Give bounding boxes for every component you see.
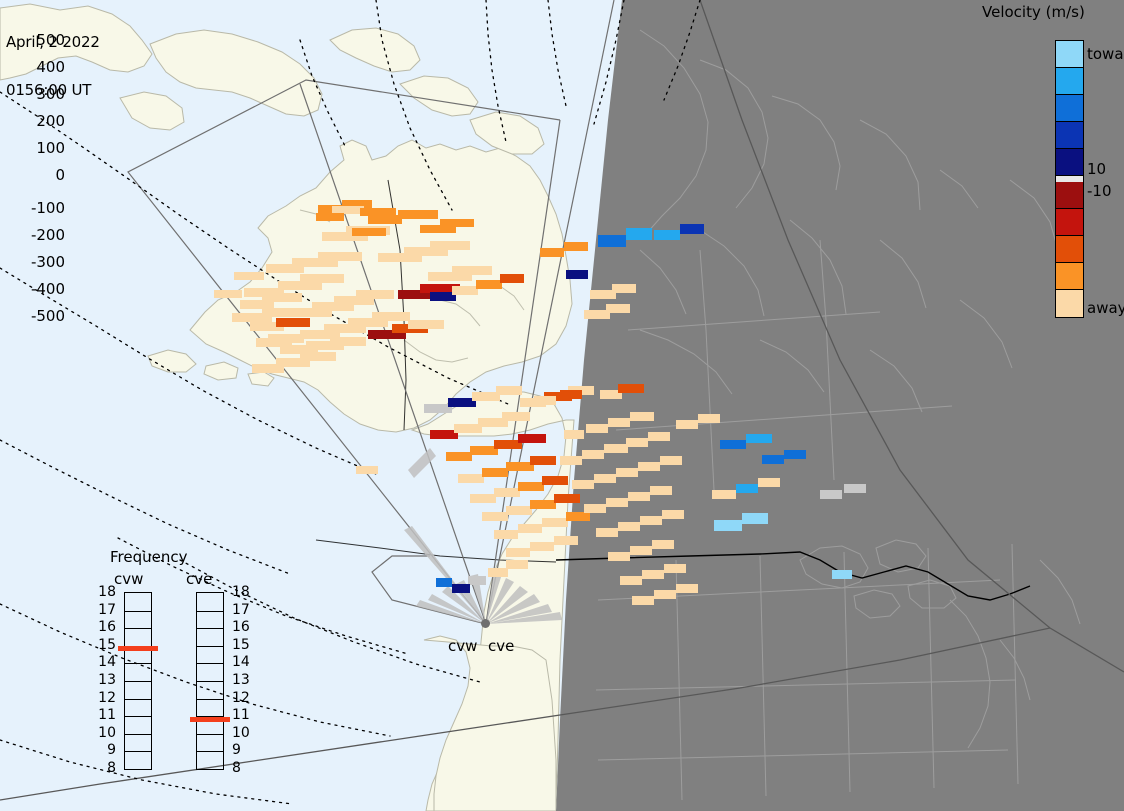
- scatter-cell: [758, 478, 780, 487]
- frequency-gauge-segment: [197, 611, 223, 612]
- scatter-cell: [664, 564, 686, 573]
- scatter-cell: [372, 312, 410, 321]
- scatter-cell: [582, 450, 604, 459]
- scatter-cell: [660, 456, 682, 465]
- scatter-cell: [542, 518, 568, 527]
- frequency-gauge-segment: [197, 751, 223, 752]
- frequency-gauge-segment: [197, 663, 223, 664]
- frequency-tick-label: 17: [232, 602, 250, 618]
- colorbar-title: Velocity (m/s): [982, 3, 1085, 21]
- frequency-gauge-cve: [196, 592, 224, 770]
- scatter-cell: [234, 272, 264, 280]
- scatter-cell: [844, 484, 866, 493]
- frequency-gauge-segment: [197, 646, 223, 647]
- colorbar-tick-label: 400: [36, 58, 65, 76]
- colorbar-band-toward: [1056, 122, 1083, 149]
- scatter-cell: [530, 500, 556, 509]
- frequency-tick-label: 10: [232, 725, 250, 741]
- velocity-colorbar: [1055, 40, 1084, 318]
- scatter-cell: [470, 446, 498, 455]
- scatter-cell: [500, 274, 524, 283]
- scatter-cell: [494, 530, 518, 539]
- scatter-cell: [560, 390, 582, 399]
- colorbar-tick-label: 100: [36, 139, 65, 157]
- scatter-cell: [506, 462, 534, 471]
- site-label-cvw: cvw: [448, 637, 477, 655]
- scatter-cell: [560, 456, 582, 465]
- scatter-cell: [214, 290, 242, 298]
- colorbar-tick-label: -200: [31, 226, 65, 244]
- frequency-tick-label: 16: [232, 619, 250, 635]
- frequency-tick-label: 18: [86, 584, 116, 600]
- frequency-tick-label: 14: [232, 654, 250, 670]
- colorbar-gradient: [1055, 40, 1084, 318]
- scatter-cell: [518, 524, 542, 533]
- frequency-marker-cve: [190, 717, 230, 722]
- scatter-cell: [430, 241, 470, 250]
- scatter-cell: [494, 488, 520, 497]
- scatter-cell: [572, 480, 594, 489]
- scatter-cell: [566, 270, 588, 279]
- frequency-gauge-segment: [197, 734, 223, 735]
- scatter-cell: [448, 398, 476, 407]
- frequency-gauge-segment: [197, 681, 223, 682]
- colorbar-band-away: [1056, 182, 1083, 209]
- colorbar-minus-threshold-label: -10: [1087, 182, 1112, 200]
- frequency-tick-label: 9: [232, 742, 241, 758]
- scatter-cell: [586, 424, 608, 433]
- scatter-cell: [518, 482, 544, 491]
- scatter-cell: [616, 468, 638, 477]
- scatter-cell: [506, 548, 530, 557]
- scatter-cell: [290, 308, 332, 317]
- scatter-cell: [628, 492, 650, 501]
- frequency-gauge-segment: [125, 681, 151, 682]
- scatter-cell: [530, 456, 556, 465]
- scatter-cell: [502, 412, 530, 421]
- scatter-cell: [720, 440, 746, 449]
- scatter-cell: [436, 578, 452, 587]
- scatter-cell: [300, 274, 344, 283]
- scatter-cell: [330, 337, 366, 346]
- scatter-cell: [470, 494, 496, 503]
- colorbar-away-label: away: [1087, 299, 1124, 317]
- scatter-cell: [712, 490, 736, 499]
- frequency-gauge-segment: [125, 751, 151, 752]
- scatter-cell: [746, 434, 772, 443]
- frequency-gauge-segment: [125, 611, 151, 612]
- frequency-tick-label: 11: [86, 707, 116, 723]
- scatter-cell: [714, 520, 742, 531]
- colorbar-band-toward: [1056, 68, 1083, 95]
- scatter-cell: [654, 230, 680, 240]
- scatter-cell: [608, 552, 630, 561]
- frequency-gauge-label-cvw: cvw: [114, 570, 143, 588]
- scatter-cell: [680, 224, 704, 234]
- scatter-cell: [482, 512, 508, 521]
- scatter-cell: [446, 452, 472, 461]
- frequency-tick-label: 17: [86, 602, 116, 618]
- frequency-tick-label: 11: [232, 707, 250, 723]
- frequency-gauge-segment: [197, 699, 223, 700]
- colorbar-tick-label: 200: [36, 112, 65, 130]
- scatter-cell: [332, 206, 364, 214]
- scatter-cell: [360, 208, 396, 216]
- colorbar-band-away: [1056, 236, 1083, 263]
- frequency-tick-label: 8: [86, 760, 116, 776]
- scatter-cell: [542, 476, 568, 485]
- scatter-cell: [566, 512, 590, 521]
- scatter-cell: [742, 513, 768, 524]
- scatter-cell: [316, 213, 344, 221]
- frequency-tick-label: 8: [232, 760, 241, 776]
- scatter-cell: [654, 590, 676, 599]
- frequency-panel-title: Frequency: [110, 548, 188, 566]
- frequency-gauge-segment: [125, 716, 151, 717]
- frequency-tick-label: 12: [232, 690, 250, 706]
- scatter-cell: [440, 219, 474, 227]
- scatter-cell: [642, 570, 664, 579]
- scatter-cell: [596, 528, 618, 537]
- scatter-cell: [584, 504, 606, 513]
- scatter-cell: [452, 584, 470, 593]
- scatter-cell: [468, 576, 486, 585]
- scatter-cell: [252, 364, 284, 373]
- scatter-cell: [496, 386, 522, 395]
- colorbar-band-toward: [1056, 41, 1083, 68]
- colorbar-tick-label: -500: [31, 307, 65, 325]
- colorbar-tick-label: -300: [31, 253, 65, 271]
- scatter-cell: [620, 576, 642, 585]
- scatter-cell: [476, 280, 502, 289]
- colorbar-tick-label: 500: [36, 31, 65, 49]
- scatter-cell: [506, 560, 528, 569]
- frequency-tick-label: 13: [232, 672, 250, 688]
- scatter-cell: [606, 304, 630, 313]
- frequency-tick-label: 16: [86, 619, 116, 635]
- scatter-cell: [430, 430, 458, 439]
- frequency-tick-label: 14: [86, 654, 116, 670]
- scatter-cell: [640, 516, 662, 525]
- colorbar-band-away: [1056, 209, 1083, 236]
- scatter-cell: [534, 396, 556, 405]
- scatter-cell: [650, 486, 672, 495]
- scatter-cell: [652, 540, 674, 549]
- velocity-scatter-cells: [0, 0, 1124, 811]
- scatter-cell: [530, 542, 554, 551]
- frequency-marker-cvw: [118, 646, 158, 651]
- frequency-gauge-segment: [125, 663, 151, 664]
- frequency-tick-label: 13: [86, 672, 116, 688]
- frequency-gauge-segment: [125, 628, 151, 629]
- scatter-cell: [612, 284, 636, 293]
- scatter-cell: [618, 384, 644, 393]
- frequency-tick-label: 15: [232, 637, 250, 653]
- scatter-cell: [676, 584, 698, 593]
- scatter-cell: [630, 546, 652, 555]
- colorbar-band-toward: [1056, 95, 1083, 122]
- scatter-cell: [632, 596, 654, 605]
- scatter-cell: [598, 235, 626, 247]
- scatter-cell: [608, 418, 630, 427]
- scatter-cell: [352, 228, 386, 236]
- colorbar-band-away: [1056, 263, 1083, 290]
- frequency-tick-label: 12: [86, 690, 116, 706]
- scatter-cell: [540, 248, 564, 257]
- scatter-cell: [648, 432, 670, 441]
- scatter-cell: [626, 228, 652, 240]
- scatter-cell: [276, 318, 310, 327]
- frequency-gauge-segment: [197, 628, 223, 629]
- frequency-tick-label: 18: [232, 584, 250, 600]
- scatter-cell: [638, 462, 660, 471]
- scatter-cell: [554, 494, 580, 503]
- scatter-cell: [618, 522, 640, 531]
- colorbar-toward-label: toward: [1087, 45, 1124, 63]
- scatter-cell: [564, 242, 588, 251]
- scatter-cell: [626, 438, 648, 447]
- scatter-cell: [554, 536, 578, 545]
- scatter-cell: [594, 474, 616, 483]
- scatter-cell: [604, 444, 628, 453]
- scatter-cell: [368, 215, 402, 224]
- scatter-cell: [472, 392, 500, 401]
- radar-site-dot: [481, 619, 490, 628]
- scatter-cell: [698, 414, 720, 423]
- scatter-cell: [606, 498, 628, 507]
- scatter-cell: [452, 266, 492, 275]
- frequency-gauge-label-cve: cve: [186, 570, 212, 588]
- scatter-cell: [762, 455, 784, 464]
- scatter-cell: [676, 420, 698, 429]
- scatter-cell: [454, 424, 482, 433]
- scatter-cell: [564, 430, 584, 439]
- colorbar-tick-label: 300: [36, 85, 65, 103]
- scatter-cell: [356, 466, 378, 474]
- frequency-tick-label: 15: [86, 637, 116, 653]
- scatter-cell: [488, 568, 508, 577]
- colorbar-band-away: [1056, 290, 1083, 317]
- frequency-tick-label: 9: [86, 742, 116, 758]
- scatter-cell: [458, 474, 484, 483]
- scatter-cell: [784, 450, 806, 459]
- scatter-cell: [662, 510, 684, 519]
- frequency-gauge-cvw: [124, 592, 152, 770]
- colorbar-tick-label: 0: [55, 166, 65, 184]
- scatter-cell: [452, 286, 478, 295]
- scatter-cell: [518, 434, 546, 443]
- site-label-cve: cve: [488, 637, 514, 655]
- colorbar-tick-label: -100: [31, 199, 65, 217]
- scatter-cell: [482, 468, 508, 477]
- scatter-cell: [506, 506, 532, 515]
- scatter-cell: [832, 570, 852, 579]
- colorbar-band-toward: [1056, 149, 1083, 176]
- scatter-cell: [736, 484, 758, 493]
- frequency-gauge-segment: [125, 699, 151, 700]
- colorbar-plus-threshold-label: 10: [1087, 160, 1106, 178]
- scatter-cell: [398, 210, 438, 219]
- scatter-cell: [408, 320, 444, 329]
- colorbar-tick-label: -400: [31, 280, 65, 298]
- radar-velocity-map: April, 2 2022 0156:00 UT Velocity (m/s) …: [0, 0, 1124, 811]
- scatter-cell: [318, 252, 362, 261]
- scatter-cell: [630, 412, 654, 421]
- frequency-gauge-segment: [125, 734, 151, 735]
- scatter-cell: [494, 440, 522, 449]
- scatter-cell: [820, 490, 842, 499]
- frequency-tick-label: 10: [86, 725, 116, 741]
- scatter-cell: [424, 404, 452, 413]
